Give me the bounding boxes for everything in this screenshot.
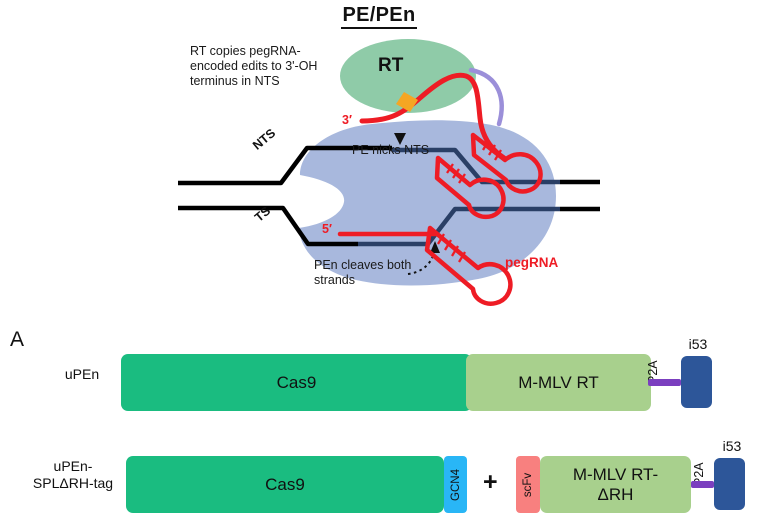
mmlv-rt-drh-line2: ΔRH [598,485,634,505]
construct-label-line2: SPLΔRH-tag [14,475,132,492]
construct-label-upen: uPEn [34,366,130,383]
scfv-label: scFv [522,472,534,496]
p2a-linker-split [691,481,714,488]
three-prime-label: 3′ [342,113,352,128]
note-pe-nicks-nts: PE nicks NTS [352,143,429,158]
note-pen-cleaves: PEn cleaves both strands [314,258,454,288]
figure-canvas: PE/PEn [0,0,758,520]
domain-gcn4[interactable]: GCN4 [444,456,467,513]
five-prime-label: 5′ [322,222,332,237]
construct-separator-plus: + [483,468,498,497]
domain-cas9[interactable]: Cas9 [121,354,472,411]
domain-i53[interactable] [681,356,712,408]
gcn4-label: GCN4 [450,469,462,501]
panel-letter-a: A [10,328,24,352]
i53-label-split: i53 [712,438,752,454]
domain-i53-split[interactable] [714,458,745,510]
domain-mmlv-rt-drh[interactable]: M-MLV RT- ΔRH [540,456,691,513]
p2a-linker [648,379,681,386]
note-rt-copies: RT copies pegRNA-encoded edits to 3'-OH … [190,44,340,89]
domain-cas9-split[interactable]: Cas9 [126,456,444,513]
domain-mmlv-rt[interactable]: M-MLV RT [466,354,651,411]
construct-label-upen-spl-drh-tag: uPEn- SPLΔRH-tag [14,458,132,492]
construct-label-line1: uPEn- [14,458,132,475]
rt-label: RT [378,58,403,73]
pegrna-label: pegRNA [505,255,558,270]
domain-scfv[interactable]: scFv [516,456,540,513]
mmlv-rt-drh-line1: M-MLV RT- [573,465,658,485]
i53-label: i53 [678,336,718,352]
